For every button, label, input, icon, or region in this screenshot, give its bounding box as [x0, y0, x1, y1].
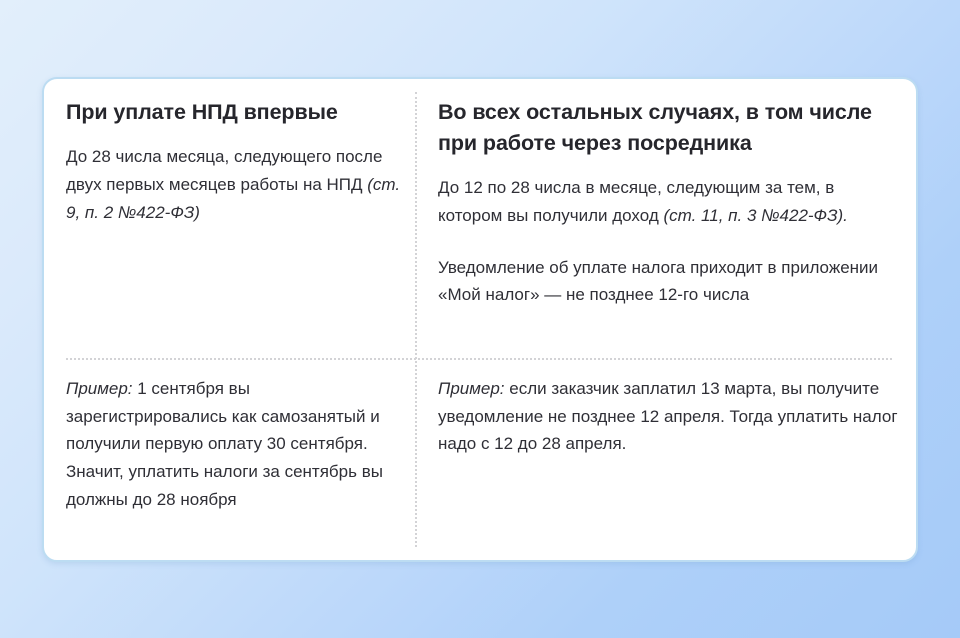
left-column-example-label: Пример: [66, 379, 133, 398]
left-column-example-text: 1 сентября вы зарегистрировались как сам… [66, 379, 383, 509]
left-column-body-main: До 28 числа месяца, следующего после дву… [66, 147, 382, 194]
left-column-heading: При уплате НПД впервые [66, 97, 411, 128]
right-column-example-block: Пример: если заказчик заплатил 13 марта,… [438, 375, 898, 458]
infographic-canvas: При уплате НПД впервые До 28 числа месяц… [0, 0, 960, 638]
right-column-heading: Во всех остальных случаях, в том числе п… [438, 97, 898, 159]
right-column-notice: Уведомление об уплате налога приходит в … [438, 254, 898, 309]
right-column-statute-reference: (ст. 11, п. 3 №422-ФЗ). [663, 206, 847, 225]
right-column-example-label: Пример: [438, 379, 505, 398]
comparison-card: При уплате НПД впервые До 28 числа месяц… [42, 77, 918, 562]
right-column-example-text: если заказчик заплатил 13 марта, вы полу… [438, 379, 898, 453]
vertical-divider [415, 92, 417, 547]
left-column-example: Пример: 1 сентября вы зарегистрировались… [66, 375, 411, 514]
right-column-body: До 12 по 28 числа в месяце, следующим за… [438, 174, 898, 229]
left-column-example-block: Пример: 1 сентября вы зарегистрировались… [66, 375, 411, 514]
right-column-example: Пример: если заказчик заплатил 13 марта,… [438, 375, 898, 458]
right-column-primary-block: Во всех остальных случаях, в том числе п… [438, 97, 898, 309]
left-column-primary-block: При уплате НПД впервые До 28 числа месяц… [66, 97, 411, 226]
horizontal-divider [66, 358, 892, 360]
left-column-body: До 28 числа месяца, следующего после дву… [66, 143, 411, 226]
